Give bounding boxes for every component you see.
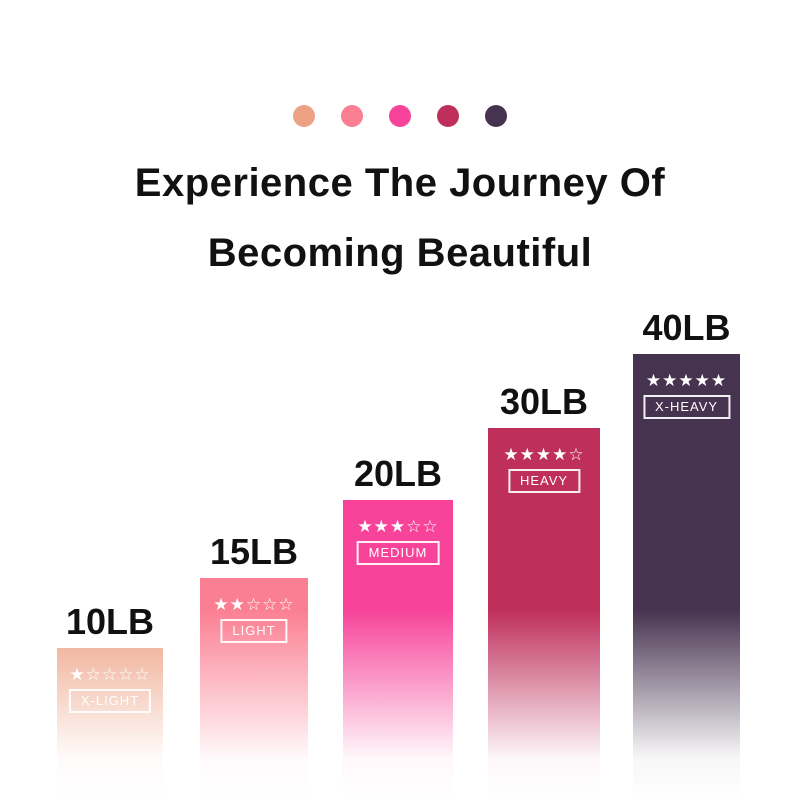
bar-tag-x-light: X-LIGHT	[69, 689, 151, 713]
bar-badge-x-light: ★☆☆☆☆X-LIGHT	[69, 666, 151, 713]
bar-fade-heavy	[488, 610, 600, 800]
star-rating-icon-x-heavy: ★★★★★	[646, 372, 727, 389]
bar-column-light[interactable]: 15LB★★☆☆☆LIGHT	[200, 578, 308, 800]
bar-tag-medium: MEDIUM	[357, 541, 440, 565]
star-rating-icon-heavy: ★★★★☆	[503, 446, 584, 463]
bar-column-medium[interactable]: 20LB★★★☆☆MEDIUM	[343, 500, 453, 800]
bar-column-x-heavy[interactable]: 40LB★★★★★X-HEAVY	[633, 354, 740, 800]
bar-weight-label-x-light: 10LB	[66, 604, 154, 640]
bar-tag-heavy: HEAVY	[508, 469, 580, 493]
star-rating-icon-light: ★★☆☆☆	[213, 596, 294, 613]
bar-badge-heavy: ★★★★☆HEAVY	[503, 446, 584, 493]
bar-x-heavy	[633, 354, 740, 800]
bar-weight-label-light: 15LB	[210, 534, 298, 570]
infographic-canvas: Experience The Journey Of Becoming Beaut…	[0, 0, 800, 800]
bar-tag-x-heavy: X-HEAVY	[643, 395, 730, 419]
bar-weight-label-x-heavy: 40LB	[642, 310, 730, 346]
bar-badge-medium: ★★★☆☆MEDIUM	[357, 518, 440, 565]
resistance-bar-chart: 10LB★☆☆☆☆X-LIGHT15LB★★☆☆☆LIGHT20LB★★★☆☆M…	[0, 0, 800, 800]
bar-weight-label-heavy: 30LB	[500, 384, 588, 420]
bar-column-heavy[interactable]: 30LB★★★★☆HEAVY	[488, 428, 600, 800]
star-rating-icon-x-light: ★☆☆☆☆	[69, 666, 150, 683]
bar-column-x-light[interactable]: 10LB★☆☆☆☆X-LIGHT	[57, 648, 163, 800]
bar-fade-x-heavy	[633, 610, 740, 800]
bar-weight-label-medium: 20LB	[354, 456, 442, 492]
bar-badge-light: ★★☆☆☆LIGHT	[213, 596, 294, 643]
star-rating-icon-medium: ★★★☆☆	[357, 518, 438, 535]
bar-tag-light: LIGHT	[220, 619, 287, 643]
bar-badge-x-heavy: ★★★★★X-HEAVY	[643, 372, 730, 419]
bar-fade-medium	[343, 610, 453, 800]
